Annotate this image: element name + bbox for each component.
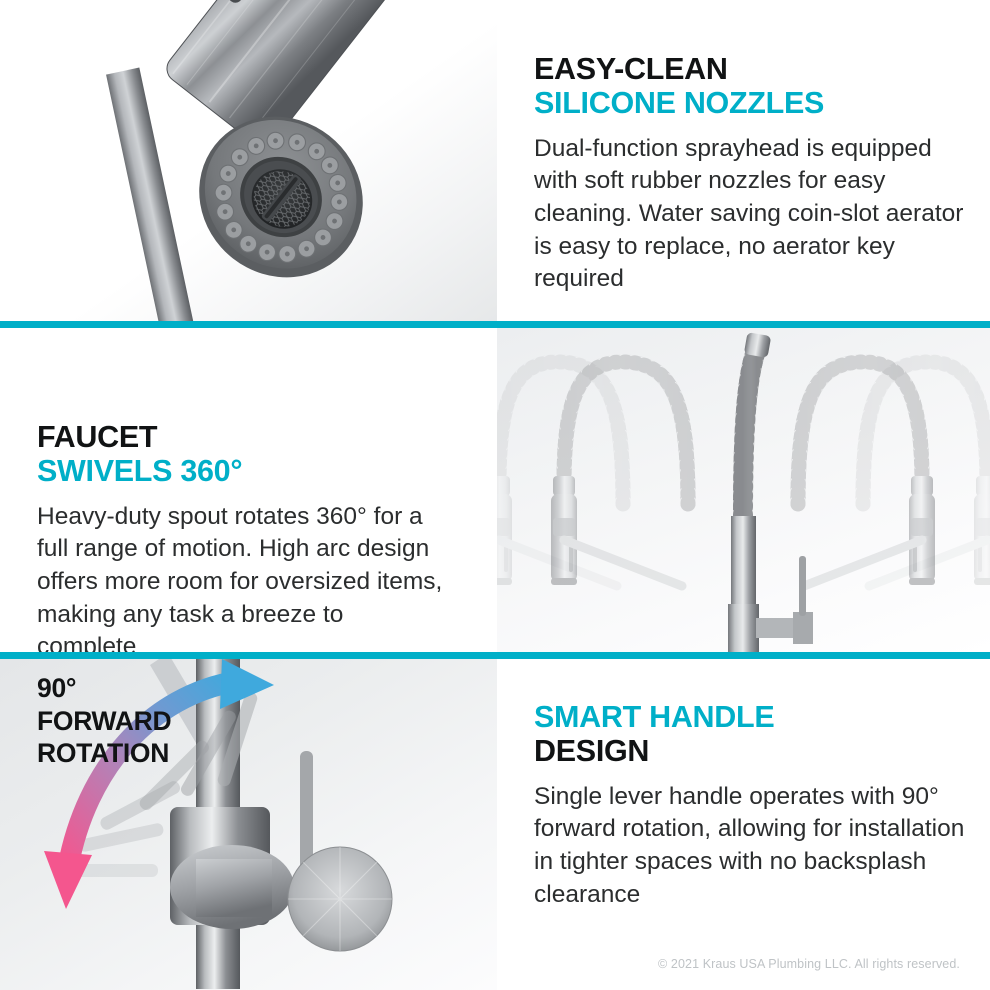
easy-clean-heading-line2: SILICONE NOZZLES [534,86,964,120]
divider-top [0,321,990,328]
arrow-head-return [44,851,92,909]
swivel-image-panel [497,328,990,652]
swivel-360-illustration [497,328,990,652]
easy-clean-heading-line1: EASY-CLEAN [534,52,964,86]
swivel-heading-line2: SWIVELS 360° [37,454,447,488]
divider-bottom [0,652,990,659]
swivel-heading-line1: FAUCET [37,420,447,454]
smart-handle-body: Single lever handle operates with 90° fo… [534,781,974,911]
swivel-body: Heavy-duty spout rotates 360° for a full… [37,501,447,664]
smart-handle-text-block: SMART HANDLE DESIGN Single lever handle … [534,700,974,911]
lever-handle [799,556,806,616]
rotation-label-line2: FORWARD [37,705,267,738]
sprayhead-image-panel [0,0,497,321]
easy-clean-text-block: EASY-CLEAN SILICONE NOZZLES Dual-functio… [534,52,964,296]
rotation-label-line1: 90° [37,672,267,705]
copyright-notice: © 2021 Kraus USA Plumbing LLC. All right… [0,957,960,971]
swivel-text-block: FAUCET SWIVELS 360° Heavy-duty spout rot… [37,420,447,664]
easy-clean-body: Dual-function sprayhead is equipped with… [534,133,964,296]
forward-rotation-label: 90° FORWARD ROTATION [37,672,267,770]
handle-cap [288,847,392,951]
smart-handle-heading-line1: SMART HANDLE [534,700,974,734]
nozzle-face [167,84,395,310]
infographic-sheet: EASY-CLEAN SILICONE NOZZLES Dual-functio… [0,0,990,990]
sprayhead-illustration [0,0,497,321]
smart-handle-heading-line2: DESIGN [534,734,974,768]
rotation-label-line3: ROTATION [37,737,267,770]
